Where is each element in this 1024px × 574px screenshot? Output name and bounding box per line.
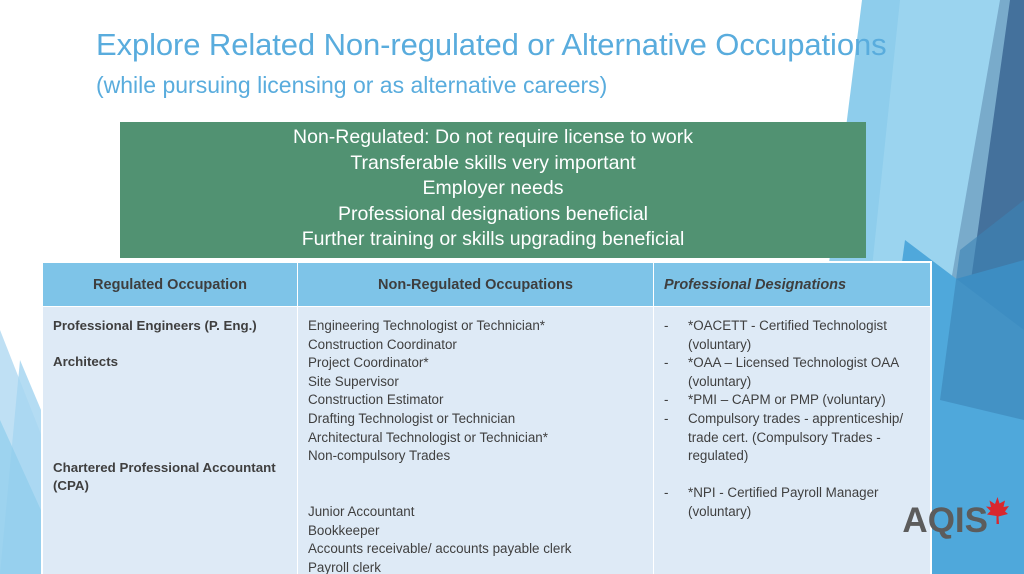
list-item: - *OACETT - Certified Technologist (volu… (664, 317, 920, 354)
callout-line-3: Employer needs (423, 176, 564, 202)
list-item: Drafting Technologist or Technician (308, 410, 643, 429)
list-item: Bookkeeper (308, 522, 643, 541)
spacer (664, 466, 920, 485)
designation-text: *OAA – Licensed Technologist OAA (volunt… (688, 354, 920, 391)
callout-line-5: Further training or skills upgrading ben… (302, 227, 685, 253)
spacer (53, 371, 287, 459)
title-block: Explore Related Non-regulated or Alterna… (96, 28, 896, 99)
callout-line-1: Non-Regulated: Do not require license to… (293, 125, 693, 151)
list-item: - *NPI - Certified Payroll Manager (volu… (664, 484, 920, 521)
organization-logo: AQIS (902, 503, 1010, 538)
dash-bullet-icon: - (664, 391, 688, 410)
non-regulated-callout-box: Non-Regulated: Do not require license to… (120, 122, 866, 258)
dash-bullet-icon: - (664, 410, 688, 466)
occupations-table: Regulated Occupation Non-Regulated Occup… (42, 262, 931, 574)
maple-leaf-icon (984, 495, 1010, 525)
page-title: Explore Related Non-regulated or Alterna… (96, 28, 896, 63)
table-row: Professional Engineers (P. Eng.) Archite… (43, 307, 931, 574)
dash-bullet-icon: - (664, 484, 688, 521)
list-item: - *PMI – CAPM or PMP (voluntary) (664, 391, 920, 410)
page-subtitle: (while pursuing licensing or as alternat… (96, 72, 896, 100)
list-item: Payroll clerk (308, 559, 643, 574)
table-header-row: Regulated Occupation Non-Regulated Occup… (43, 263, 931, 307)
slide-canvas: Explore Related Non-regulated or Alterna… (0, 0, 1024, 574)
designation-text: *NPI - Certified Payroll Manager (volunt… (688, 484, 920, 521)
cell-non-regulated-occupations: Engineering Technologist or Technician* … (298, 307, 654, 574)
designation-text: Compulsory trades - apprenticeship/ trad… (688, 410, 920, 466)
spacer (53, 335, 287, 353)
designation-text: *PMI – CAPM or PMP (voluntary) (688, 391, 920, 410)
logo-text: AQIS (902, 503, 988, 538)
list-item: - *OAA – Licensed Technologist OAA (volu… (664, 354, 920, 391)
cell-professional-designations: - *OACETT - Certified Technologist (volu… (654, 307, 931, 574)
regulated-occupation-architects: Architects (53, 353, 287, 371)
callout-line-2: Transferable skills very important (350, 151, 635, 177)
designation-text: *OACETT - Certified Technologist (volunt… (688, 317, 920, 354)
dash-bullet-icon: - (664, 354, 688, 391)
column-header-non-regulated-occupations: Non-Regulated Occupations (298, 263, 654, 307)
dash-bullet-icon: - (664, 317, 688, 354)
list-item: Engineering Technologist or Technician* (308, 317, 643, 336)
column-header-regulated-occupation: Regulated Occupation (43, 263, 298, 307)
list-item: Junior Accountant (308, 503, 643, 522)
regulated-occupation-cpa: Chartered Professional Accountant (CPA) (53, 459, 287, 495)
list-item: Non-compulsory Trades (308, 447, 643, 466)
regulated-occupation-engineers: Professional Engineers (P. Eng.) (53, 317, 287, 335)
list-item: Construction Coordinator (308, 336, 643, 355)
spacer (308, 484, 643, 503)
list-item: Architectural Technologist or Technician… (308, 429, 643, 448)
column-header-professional-designations: Professional Designations (654, 263, 931, 307)
list-item: Construction Estimator (308, 391, 643, 410)
list-item: - Compulsory trades - apprenticeship/ tr… (664, 410, 920, 466)
cell-regulated-occupation: Professional Engineers (P. Eng.) Archite… (43, 307, 298, 574)
spacer (308, 466, 643, 485)
list-item: Site Supervisor (308, 373, 643, 392)
list-item: Project Coordinator* (308, 354, 643, 373)
list-item: Accounts receivable/ accounts payable cl… (308, 540, 643, 559)
callout-line-4: Professional designations beneficial (338, 202, 648, 228)
